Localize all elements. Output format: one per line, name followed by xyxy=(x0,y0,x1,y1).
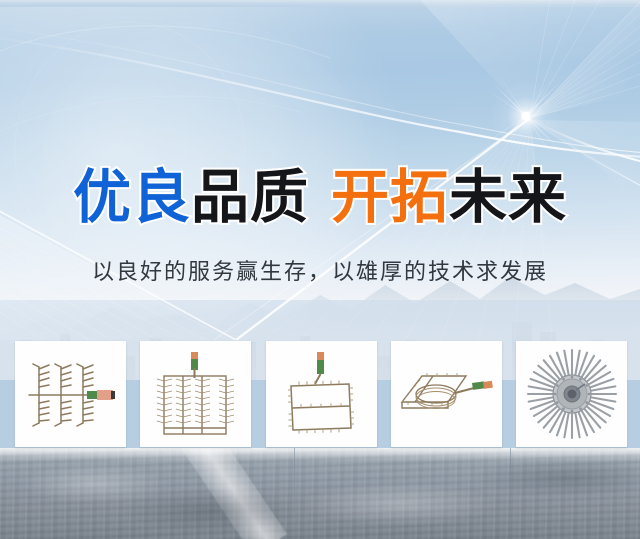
product-card-4[interactable] xyxy=(391,341,502,447)
vertical-spiked-rack-element-icon xyxy=(150,348,242,440)
promotional-banner: 优良品质开拓未来 以良好的服务赢生存，以雄厚的技术求发展 xyxy=(0,0,640,539)
product-thumbnail-row xyxy=(15,341,627,447)
product-card-2[interactable] xyxy=(140,341,251,447)
ground-seam xyxy=(294,448,295,539)
headline-part-3: 开拓 xyxy=(331,166,449,228)
banner-subtitle: 以良好的服务赢生存，以雄厚的技术求发展 xyxy=(0,258,640,288)
ground-shadow xyxy=(120,488,300,534)
ground-shadow xyxy=(470,458,640,498)
headline-part-1: 优良 xyxy=(73,166,191,228)
product-card-5[interactable] xyxy=(516,341,627,447)
headline-part-2: 品质 xyxy=(191,166,309,228)
banner-headline: 优良品质开拓未来 xyxy=(0,166,640,228)
flat-frame-coil-element-icon xyxy=(396,352,496,436)
lens-flare-star-icon xyxy=(468,58,588,178)
rectangular-frame-element-icon xyxy=(275,348,367,440)
branched-comb-heating-element-icon xyxy=(21,351,121,437)
concrete-ground xyxy=(0,448,640,539)
product-card-1[interactable] xyxy=(15,341,126,447)
headline-part-4: 未来 xyxy=(449,166,567,228)
radial-starburst-fixture-icon xyxy=(525,347,619,441)
ground-seam xyxy=(510,448,511,539)
product-card-3[interactable] xyxy=(266,341,377,447)
